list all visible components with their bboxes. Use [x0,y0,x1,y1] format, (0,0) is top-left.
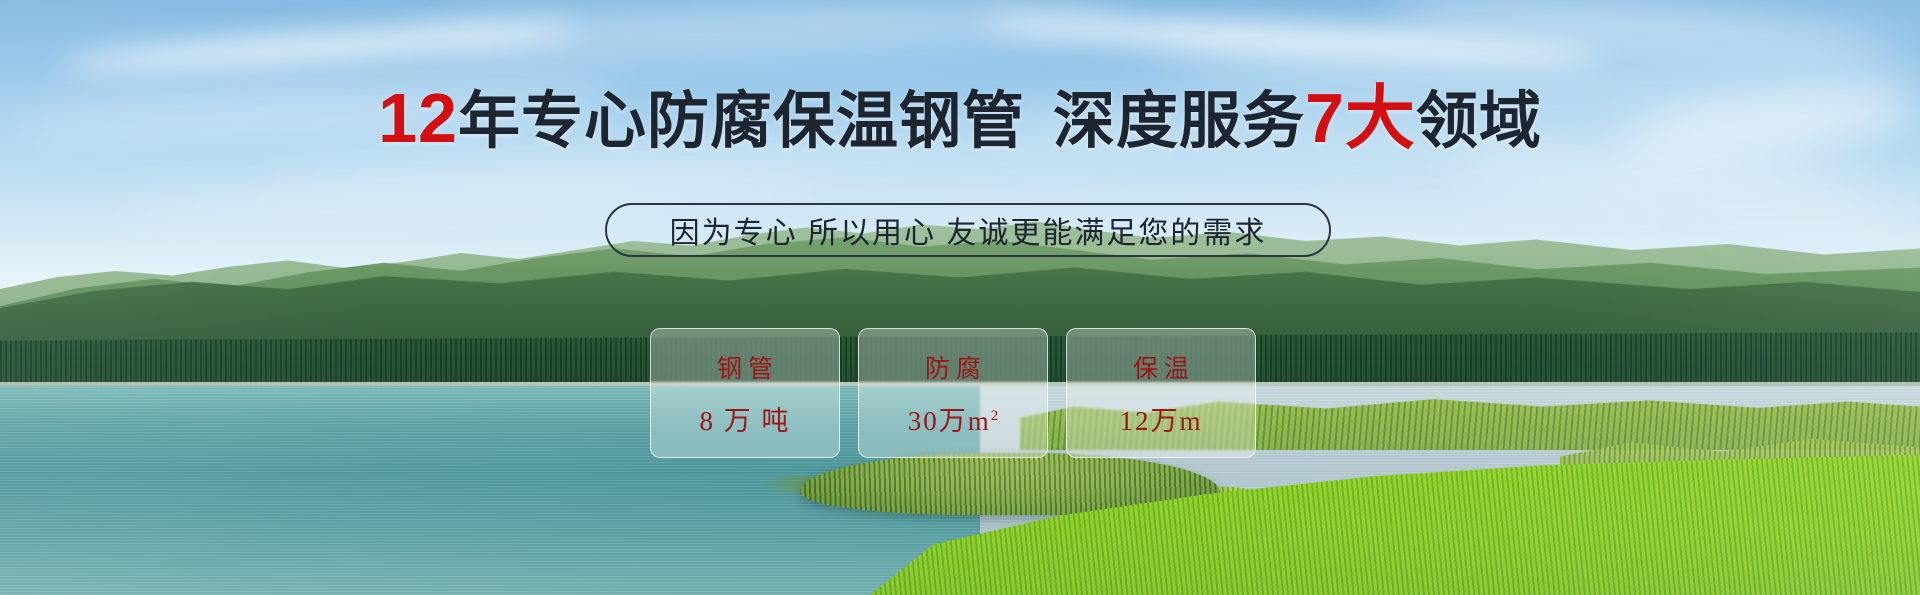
stat-card-insulation: 保温 12万m [1066,328,1256,458]
stat-card-group: 钢管 8 万 吨 防腐 30万m2 保温 12万m [650,328,1256,458]
stat-card-label: 防腐 [919,349,987,385]
stat-card-value-superscript: 2 [991,408,999,424]
stat-card-value: 8 万 吨 [700,399,791,438]
stat-card-anticorrosion: 防腐 30万m2 [858,328,1048,458]
headline-main-text: 年专心防腐保温钢管 [458,87,1025,156]
headline-service-text: 深度服务 [1053,87,1305,156]
stat-card-value-text: 8 万 吨 [700,406,791,436]
stat-card-label: 保温 [1127,349,1195,385]
stat-card-value-text: 30万m [908,406,991,436]
banner-headline: 12年专心防腐保温钢管深度服务7大领域 [0,84,1920,156]
stat-card-label: 钢管 [711,349,779,385]
stat-card-value: 12万m [1119,399,1202,438]
subtitle-text: 因为专心 所以用心 友诚更能满足您的需求 [670,208,1267,252]
stat-card-steel-pipe: 钢管 8 万 吨 [650,328,840,458]
headline-years-number: 12 [378,79,458,157]
stat-card-value-text: 12万m [1119,406,1202,436]
stat-card-value: 30万m2 [908,399,999,438]
headline-fields-number: 7 [1305,79,1345,157]
hero-banner: 12年专心防腐保温钢管深度服务7大领域 因为专心 所以用心 友诚更能满足您的需求… [0,0,1920,595]
headline-fields-text: 领域 [1416,87,1542,156]
headline-fields-measure: 大 [1345,79,1416,157]
banner-content: 12年专心防腐保温钢管深度服务7大领域 因为专心 所以用心 友诚更能满足您的需求… [0,0,1920,595]
subtitle-pill: 因为专心 所以用心 友诚更能满足您的需求 [605,203,1331,257]
